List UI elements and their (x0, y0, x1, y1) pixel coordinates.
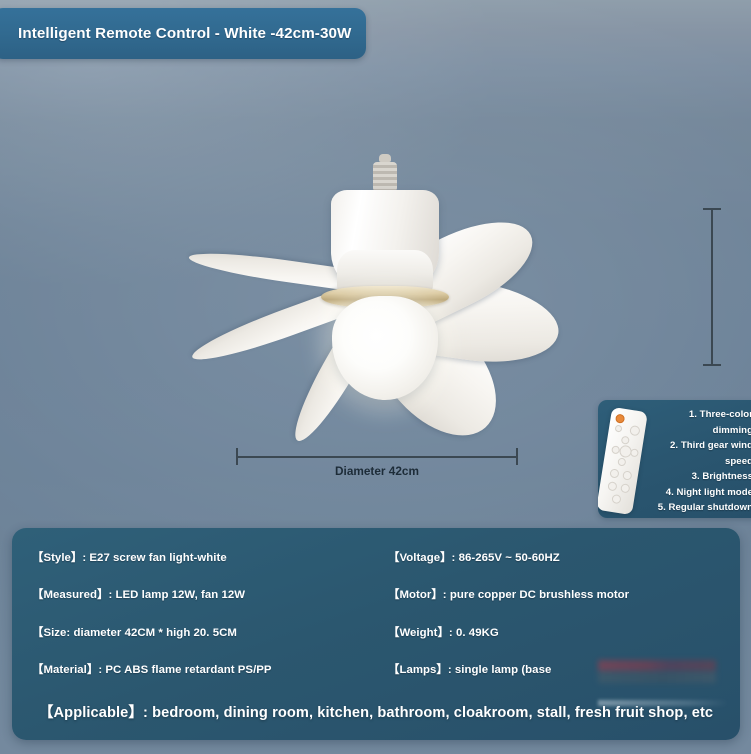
diameter-dimension-line: Diameter 42cm (236, 448, 518, 482)
dimension-line-horizontal (236, 456, 518, 458)
remote-feature-item: 1. Three-color dimming (647, 407, 751, 438)
spec-item-style: 【Style】: E27 screw fan light-white (32, 549, 376, 565)
e27-screw-base (373, 162, 397, 192)
remote-feature-item: 2. Third gear wind speed (647, 438, 751, 469)
remote-control-illustration (598, 407, 648, 515)
spec-item-size: 【Size: diameter 42CM * high 20. 5CM (32, 624, 376, 640)
dimension-cap-bottom (703, 364, 721, 366)
specification-panel: 【Style】: E27 screw fan light-white 【Meas… (12, 528, 740, 740)
title-banner-text: Intelligent Remote Control - White -42cm… (18, 25, 351, 42)
title-banner: Intelligent Remote Control - White -42cm… (0, 8, 366, 59)
specification-column-left: 【Style】: E27 screw fan light-white 【Meas… (12, 538, 376, 688)
remote-feature-card: 1. Three-color dimming 2. Third gear win… (598, 400, 751, 518)
dimension-cap-right (516, 448, 518, 465)
spec-item-voltage: 【Voltage】: 86-265V ~ 50-60HZ (388, 549, 740, 565)
highlight-strip (598, 700, 728, 706)
ceiling-fan-illustration (170, 140, 600, 400)
remote-feature-item: 3. Brightness (647, 469, 751, 485)
spec-item-material: 【Material】: PC ABS flame retardant PS/PP (32, 661, 376, 677)
watermark-row (598, 660, 716, 671)
remote-feature-item: 4. Night light mode (647, 485, 751, 501)
e27-contact-tip (379, 154, 391, 162)
remote-feature-list: 1. Three-color dimming 2. Third gear win… (647, 407, 751, 516)
diameter-dimension-label: Diameter 42cm (236, 464, 518, 478)
spec-item-motor: 【Motor】: pure copper DC brushless motor (388, 586, 740, 602)
product-photo (0, 120, 700, 420)
spec-item-weight: 【Weight】: 0. 49KG (388, 624, 740, 640)
product-image-canvas: Intelligent Remote Control - White -42cm… (0, 0, 751, 754)
blurred-watermark (598, 660, 716, 690)
watermark-row (598, 672, 716, 683)
remote-feature-item: 5. Regular shutdown (647, 500, 751, 516)
dimension-line-vertical (711, 208, 713, 366)
spec-item-measured: 【Measured】: LED lamp 12W, fan 12W (32, 586, 376, 602)
height-dimension-line: Height 20. 5cm (703, 208, 733, 366)
